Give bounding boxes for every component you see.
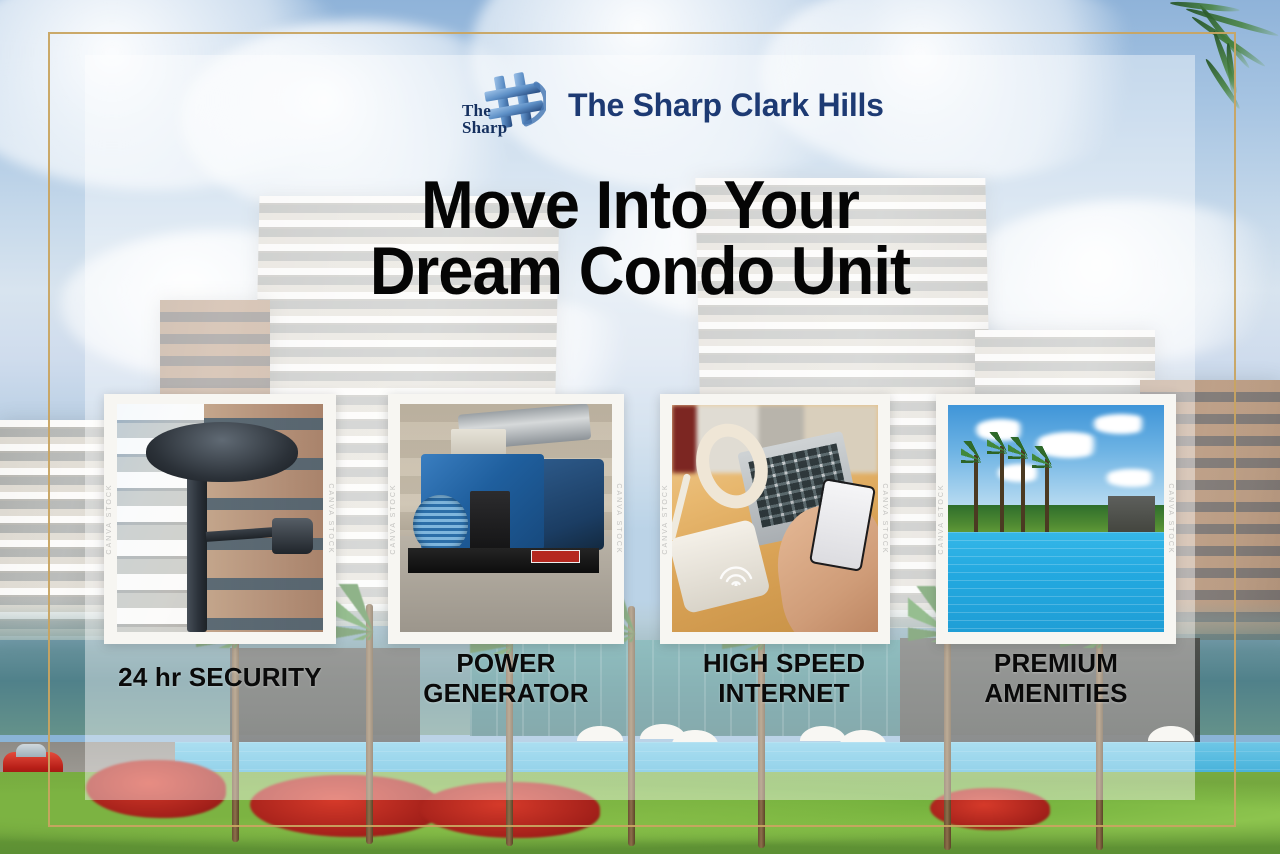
feature-label-internet-line2: INTERNET: [646, 678, 922, 708]
advertisement-canvas: TheSharp The Sharp Clark Hills Move Into…: [0, 0, 1280, 854]
feature-label-generator: POWER GENERATOR: [368, 648, 644, 708]
feature-label-amenities-line2: AMENITIES: [918, 678, 1194, 708]
feature-labels: 24 hr SECURITY POWER GENERATOR HIGH SPEE…: [0, 0, 1280, 854]
feature-label-security-line1: 24 hr SECURITY: [80, 662, 360, 692]
feature-label-generator-line1: POWER: [368, 648, 644, 678]
feature-label-generator-line2: GENERATOR: [368, 678, 644, 708]
feature-label-internet: HIGH SPEED INTERNET: [646, 648, 922, 708]
feature-label-amenities-line1: PREMIUM: [918, 648, 1194, 678]
feature-label-amenities: PREMIUM AMENITIES: [918, 648, 1194, 708]
feature-label-internet-line1: HIGH SPEED: [646, 648, 922, 678]
feature-label-security: 24 hr SECURITY: [80, 662, 360, 692]
